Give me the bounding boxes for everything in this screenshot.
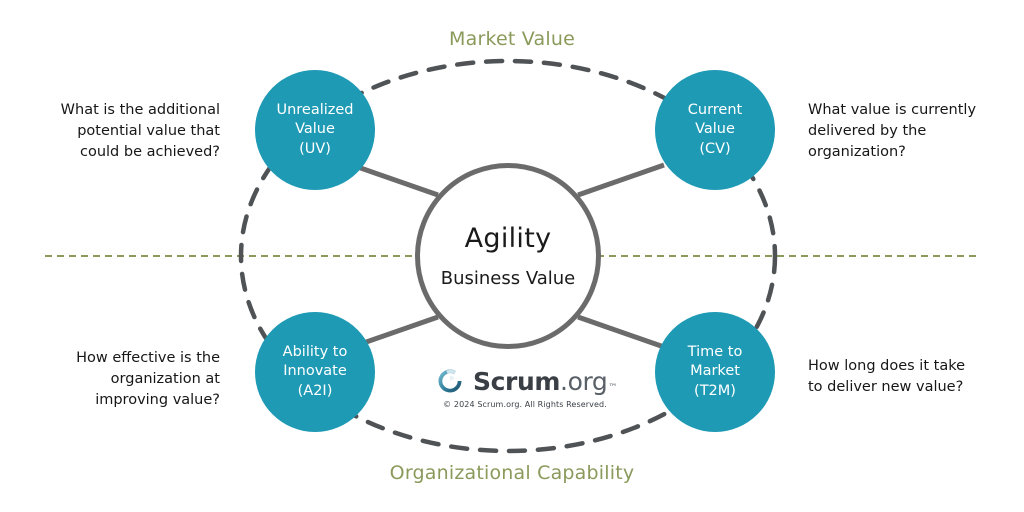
- node-cv-line-1: Current: [688, 101, 742, 120]
- logo-word-scrum: Scrum: [473, 367, 560, 396]
- node-a2i-abbreviation: (A2I): [298, 382, 333, 401]
- annotation-cv-line-3: organization?: [808, 142, 998, 163]
- node-t2m-line-1: Time to: [688, 343, 743, 362]
- node-ability-to-innovate[interactable]: Ability to Innovate (A2I): [255, 312, 375, 432]
- center-hub-agility: Agility Business Value: [415, 163, 601, 349]
- node-cv-line-2: Value: [695, 120, 735, 139]
- annotation-ability-to-innovate: How effective is the organization at imp…: [30, 348, 220, 411]
- node-a2i-line-2: Innovate: [283, 362, 347, 381]
- center-subtitle: Business Value: [441, 268, 576, 289]
- logo-copyright-text: © 2024 Scrum.org. All Rights Reserved.: [443, 400, 607, 409]
- spoke-hub-to-uv: [352, 165, 438, 195]
- annotation-a2i-line-2: organization at: [30, 369, 220, 390]
- annotation-t2m-line-1: How long does it take: [808, 356, 998, 377]
- node-t2m-line-2: Market: [690, 362, 740, 381]
- annotation-uv-line-3: could be achieved?: [30, 142, 220, 163]
- node-uv-line-1: Unrealized: [276, 101, 353, 120]
- scrum-org-logo: Scrum .org ™ © 2024 Scrum.org. All Right…: [440, 364, 610, 409]
- logo-wordmark: Scrum .org ™: [473, 367, 617, 396]
- band-label-market-value: Market Value: [0, 28, 1024, 50]
- logo-row: Scrum .org ™: [433, 364, 617, 398]
- logo-word-org: .org: [560, 367, 607, 396]
- annotation-a2i-line-1: How effective is the: [30, 348, 220, 369]
- spoke-hub-to-t2m: [578, 317, 664, 347]
- logo-trademark-symbol: ™: [608, 383, 617, 393]
- annotation-a2i-line-3: improving value?: [30, 390, 220, 411]
- node-unrealized-value[interactable]: Unrealized Value (UV): [255, 70, 375, 190]
- band-label-organizational-capability: Organizational Capability: [0, 462, 1024, 484]
- node-current-value[interactable]: Current Value (CV): [655, 70, 775, 190]
- node-uv-abbreviation: (UV): [299, 140, 331, 159]
- annotation-current-value: What value is currently delivered by the…: [808, 100, 998, 163]
- annotation-uv-line-2: potential value that: [30, 121, 220, 142]
- node-uv-line-2: Value: [295, 120, 335, 139]
- annotation-uv-line-1: What is the additional: [30, 100, 220, 121]
- scrum-swirl-icon: [433, 364, 467, 398]
- annotation-time-to-market: How long does it take to deliver new val…: [808, 356, 998, 398]
- diagram-canvas: Market Value Organizational Capability U…: [0, 0, 1024, 512]
- annotation-t2m-line-2: to deliver new value?: [808, 377, 998, 398]
- annotation-cv-line-2: delivered by the: [808, 121, 998, 142]
- spoke-hub-to-cv: [578, 165, 664, 195]
- annotation-cv-line-1: What value is currently: [808, 100, 998, 121]
- center-title: Agility: [465, 223, 552, 254]
- node-time-to-market[interactable]: Time to Market (T2M): [655, 312, 775, 432]
- node-t2m-abbreviation: (T2M): [694, 382, 736, 401]
- annotation-unrealized-value: What is the additional potential value t…: [30, 100, 220, 163]
- node-a2i-line-1: Ability to: [283, 343, 348, 362]
- node-cv-abbreviation: (CV): [699, 140, 730, 159]
